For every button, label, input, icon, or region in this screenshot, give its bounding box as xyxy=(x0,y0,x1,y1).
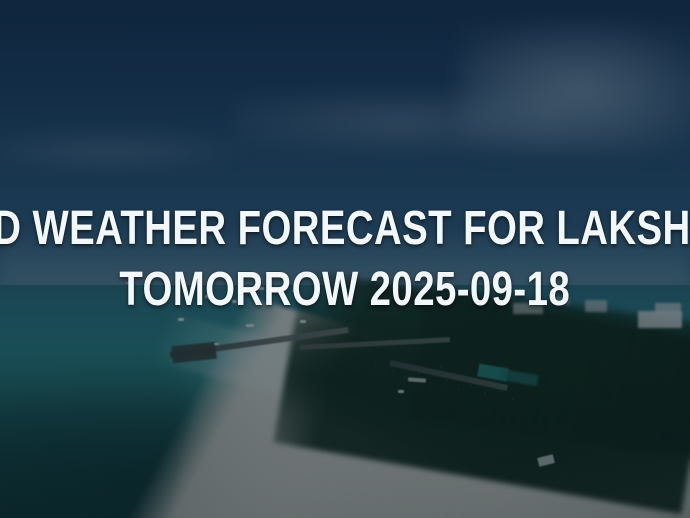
weather-forecast-hero: DETAILED WEATHER FORECAST FOR LAKSHADWEE… xyxy=(0,0,690,518)
dark-overlay xyxy=(0,0,690,518)
